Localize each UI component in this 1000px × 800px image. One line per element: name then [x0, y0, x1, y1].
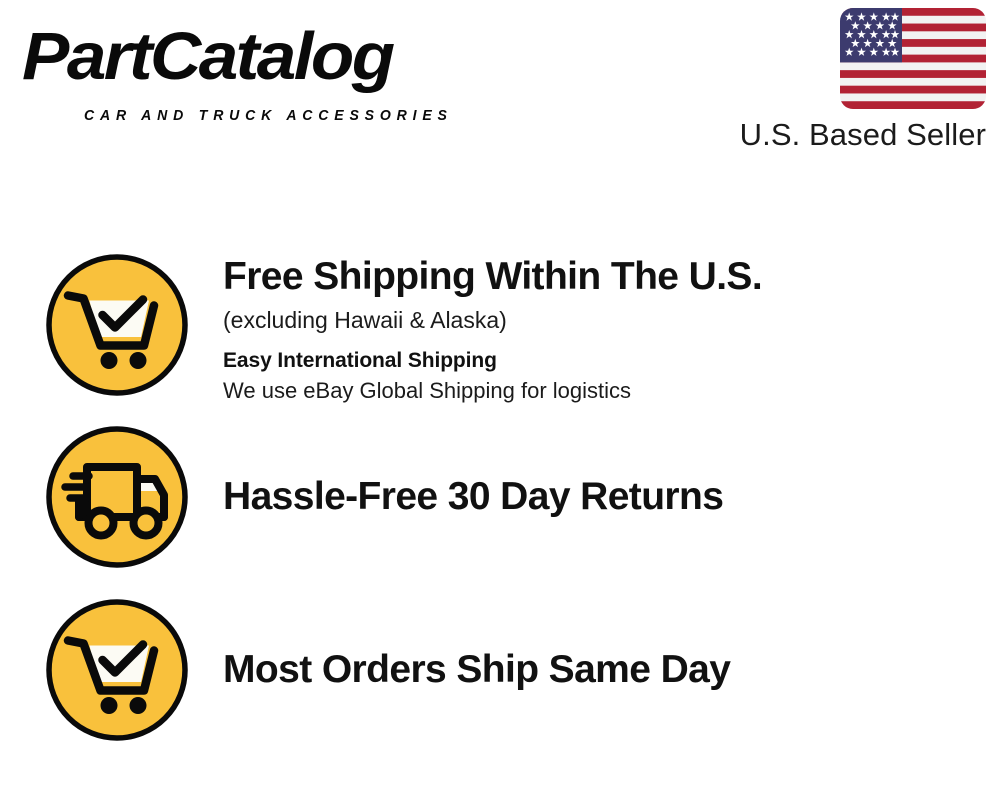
feature-text: Most Orders Ship Same Day: [223, 646, 983, 693]
feature-text: Free Shipping Within The U.S. (excluding…: [223, 253, 983, 406]
feature-note: (excluding Hawaii & Alaska): [223, 305, 983, 335]
feature-subnote: We use eBay Global Shipping for logistic…: [223, 376, 983, 406]
brand-wordmark: PartCatalog: [22, 22, 393, 92]
cart-check-icon: [45, 253, 189, 397]
feature-heading: Hassle-Free 30 Day Returns: [223, 473, 983, 520]
brand-logo[interactable]: PartCatalog CAR AND TRUCK ACCESSORIES: [22, 22, 492, 117]
brand-tagline: CAR AND TRUCK ACCESSORIES: [84, 108, 453, 124]
delivery-truck-icon: [45, 425, 189, 569]
us-based-seller-badge: U.S. Based Seller: [718, 8, 986, 153]
us-flag-icon: [840, 8, 986, 109]
feature-subheading: Easy International Shipping: [223, 347, 983, 375]
us-based-seller-label: U.S. Based Seller: [718, 117, 986, 153]
feature-heading: Most Orders Ship Same Day: [223, 646, 983, 693]
feature-text: Hassle-Free 30 Day Returns: [223, 473, 983, 520]
feature-heading: Free Shipping Within The U.S.: [223, 253, 983, 300]
cart-check-icon: [45, 598, 189, 742]
page-header: PartCatalog CAR AND TRUCK ACCESSORIES: [0, 0, 1000, 175]
